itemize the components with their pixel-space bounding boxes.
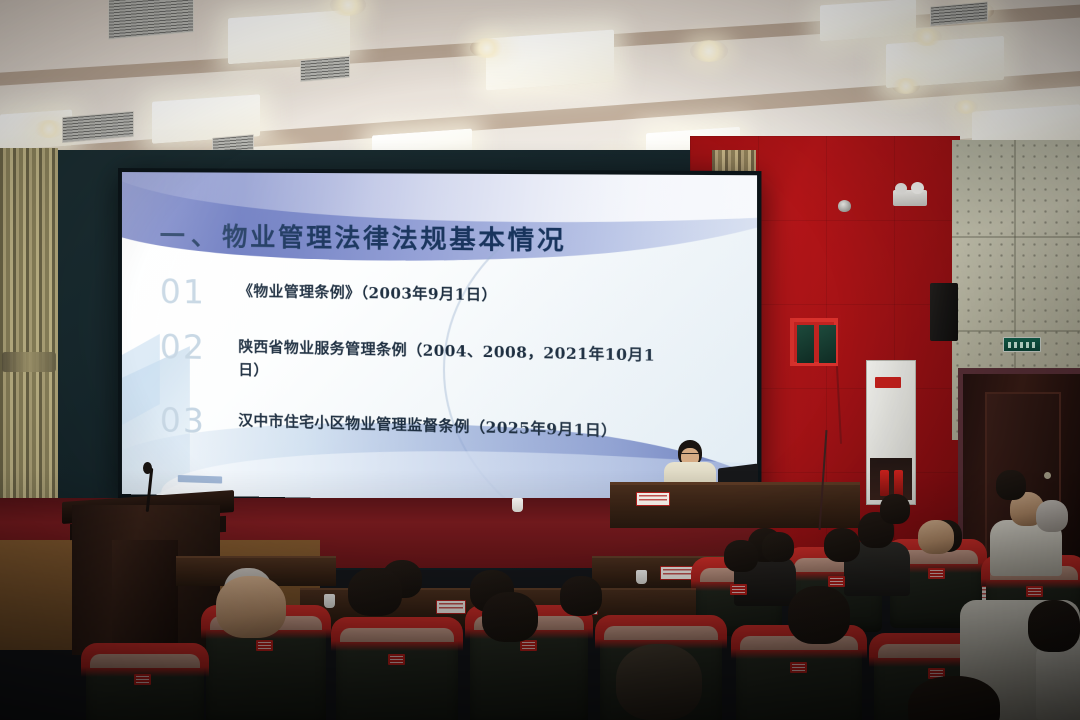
- podium-column: [112, 540, 178, 658]
- list-item-number: 03: [160, 403, 239, 438]
- curtain-left: [0, 148, 58, 548]
- nameplate-card: [436, 600, 466, 614]
- panel-seam: [952, 236, 1080, 238]
- hvac-vent-icon: [300, 56, 350, 82]
- audience-member: [880, 494, 910, 524]
- audience-member: [996, 470, 1026, 500]
- ceiling-downlight: [912, 28, 942, 46]
- ceiling-panel-light: [228, 10, 350, 65]
- microphone-icon: [143, 462, 152, 474]
- seat-badge-icon: [256, 640, 273, 651]
- list-item: 01 《物业管理条例》（2003年9月1日）: [160, 279, 724, 318]
- red-wall-window: [790, 318, 838, 366]
- audience-member: [616, 644, 702, 720]
- list-item-number: 01: [160, 275, 239, 310]
- seat-badge-icon: [134, 674, 151, 685]
- list-item-text: 汉中市住宅小区物业管理监督条例（2025年9月1日）: [238, 409, 617, 444]
- auditorium-seat[interactable]: [336, 622, 458, 720]
- audience-member: [560, 576, 602, 616]
- ceiling-panel-light: [486, 30, 614, 91]
- conference-room-photo: 一、物业管理法律法规基本情况 01 《物业管理条例》（2003年9月1日） 02…: [0, 0, 1080, 720]
- door-handle-icon[interactable]: [1044, 472, 1051, 479]
- audience-member: [1036, 500, 1068, 532]
- dome-security-camera-icon: [838, 200, 851, 212]
- flood-light-icon: [893, 190, 927, 206]
- panel-seam: [952, 330, 1080, 332]
- audience-member: [788, 586, 850, 644]
- seat-badge-icon: [928, 568, 945, 579]
- nameplate-card: [660, 566, 694, 580]
- exit-sign: [1003, 337, 1041, 352]
- fire-extinguisher-cabinet[interactable]: [866, 360, 916, 505]
- audience-member: [918, 520, 954, 554]
- auditorium-seat[interactable]: [736, 630, 862, 720]
- slide-title-number: 一、: [160, 221, 222, 251]
- audience-member: [216, 576, 286, 638]
- nameplate-card: [636, 492, 670, 506]
- audience-member: [762, 532, 794, 562]
- slide-item-list: 01 《物业管理条例》（2003年9月1日） 02 陕西省物业服务管理条例（20…: [160, 279, 724, 453]
- slide-title: 一、物业管理法律法规基本情况: [160, 216, 724, 259]
- seat-badge-icon: [388, 654, 405, 665]
- curtain-tieback: [2, 352, 56, 372]
- audience-member: [824, 528, 860, 562]
- list-item-number: 02: [160, 330, 239, 365]
- ceiling-downlight: [34, 120, 64, 138]
- ceiling-downlight: [954, 100, 978, 114]
- audience-torso: [1036, 640, 1080, 720]
- audience-member: [482, 592, 538, 642]
- window-pane: [819, 325, 836, 363]
- fire-extinguisher-icon: [894, 470, 903, 496]
- fire-extinguisher-icon: [880, 470, 889, 496]
- slide-dash-accent: [178, 475, 222, 484]
- ceiling-downlight: [470, 38, 504, 58]
- slide-content: 一、物业管理法律法规基本情况 01 《物业管理条例》（2003年9月1日） 02…: [122, 172, 757, 454]
- list-item: 02 陕西省物业服务管理条例（2004、2008，2021年10月1日）: [160, 334, 724, 395]
- slide-title-text: 物业管理法律法规基本情况: [222, 222, 566, 256]
- paper-cup: [636, 570, 647, 584]
- ceiling-downlight: [690, 40, 728, 62]
- wall-speaker-icon: [930, 283, 958, 341]
- hvac-vent-icon: [62, 111, 134, 143]
- audience-member: [348, 568, 402, 616]
- seat-badge-icon: [730, 584, 747, 595]
- paper-cup: [512, 498, 523, 512]
- audience-member: [1028, 600, 1080, 652]
- seat-badge-icon: [828, 576, 845, 587]
- presentation-slide: 一、物业管理法律法规基本情况 01 《物业管理条例》（2003年9月1日） 02…: [122, 172, 757, 517]
- seat-badge-icon: [790, 662, 807, 673]
- paper-cup: [324, 594, 335, 608]
- list-item-text: 陕西省物业服务管理条例（2004、2008，2021年10月1日）: [238, 335, 659, 393]
- ceiling-downlight: [892, 78, 920, 94]
- auditorium-seat[interactable]: [86, 648, 204, 720]
- ceiling-panel-light: [820, 0, 916, 41]
- list-item-text: 《物业管理条例》（2003年9月1日）: [238, 280, 497, 308]
- hvac-vent-icon: [108, 0, 194, 40]
- glasses-icon: [681, 453, 699, 457]
- seat-badge-icon: [520, 640, 537, 651]
- window-pane: [797, 325, 814, 363]
- seat-badge-icon: [1026, 586, 1043, 597]
- cabinet-label: [875, 377, 901, 388]
- audience-member: [724, 540, 758, 572]
